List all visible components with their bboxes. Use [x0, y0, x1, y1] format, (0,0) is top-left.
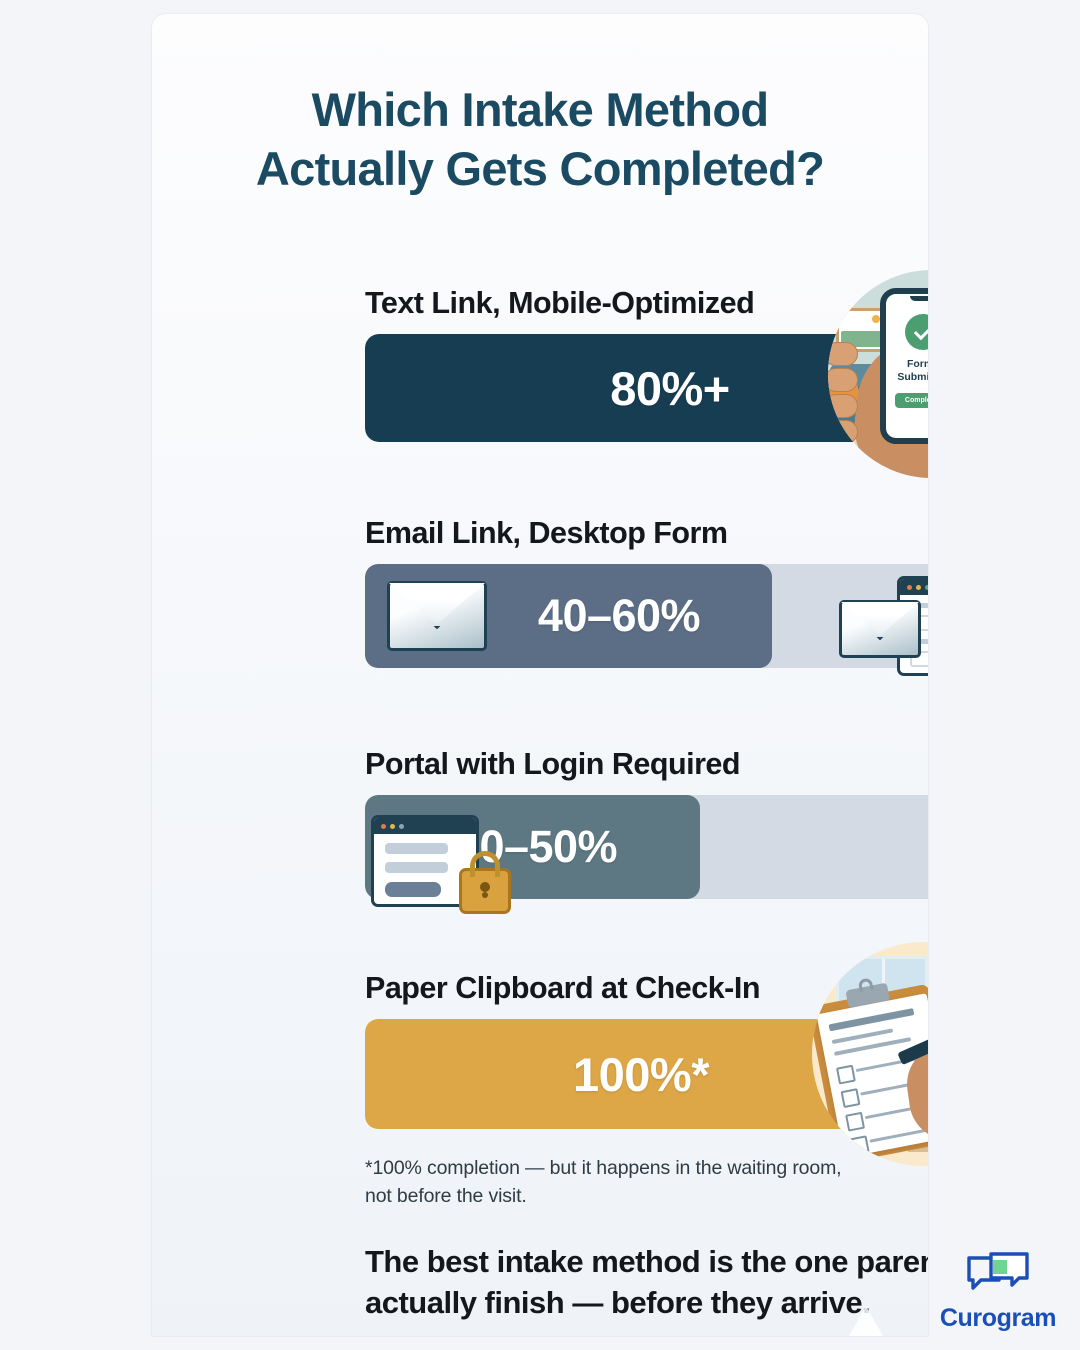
title-line-2: Actually Gets Completed? [256, 142, 824, 195]
phone-notch [910, 296, 928, 301]
footnote-line-2: not before the visit. [365, 1185, 527, 1207]
conclusion-line-2: actually finish — before they arrive. [365, 1285, 870, 1320]
title-line-1: Which Intake Method [312, 83, 769, 136]
form-checkbox [845, 1112, 865, 1132]
browser-titlebar [374, 818, 476, 834]
bar-label: Email Link, Desktop Form [365, 516, 928, 551]
form-line [869, 1126, 928, 1143]
checkmark-icon [905, 314, 928, 350]
conclusion-text: The best intake method is the one parent… [365, 1241, 928, 1323]
form-checkbox [850, 1135, 870, 1155]
chat-bubbles-icon [965, 1252, 1031, 1300]
footnote: *100% completion — but it happens in the… [365, 1154, 910, 1211]
form-checkbox [841, 1088, 861, 1108]
form-label-shape [385, 862, 448, 873]
lock-icon [459, 868, 511, 914]
form-label-shape [385, 843, 448, 854]
completed-badge: Completed [895, 393, 928, 408]
infographic-card: Which Intake Method Actually Gets Comple… [152, 14, 928, 1336]
infographic-page: Which Intake Method Actually Gets Comple… [0, 0, 1080, 1350]
form-submit-shape [385, 882, 441, 897]
footnote-line-1: *100% completion — but it happens in the… [365, 1157, 841, 1179]
browser-titlebar [900, 579, 928, 595]
form-checkbox [836, 1065, 856, 1085]
hand-holding-phone-illustration: Forms Submitted Completed [828, 270, 928, 478]
envelope-icon [839, 600, 921, 658]
smartphone-illustration: Forms Submitted Completed [880, 288, 928, 444]
conclusion-line-1: The best intake method is the one parent… [365, 1244, 928, 1279]
form-line [829, 1008, 915, 1031]
bar-label: Portal with Login Required [365, 747, 928, 782]
curogram-logo[interactable]: Curogram [928, 1252, 1068, 1333]
portal-login-illustration [371, 812, 511, 916]
phone-status-text: Forms Submitted [897, 358, 928, 384]
email-desktop-form-illustration [839, 570, 928, 682]
logo-text: Curogram [928, 1304, 1068, 1333]
page-title: Which Intake Method Actually Gets Comple… [152, 80, 928, 198]
